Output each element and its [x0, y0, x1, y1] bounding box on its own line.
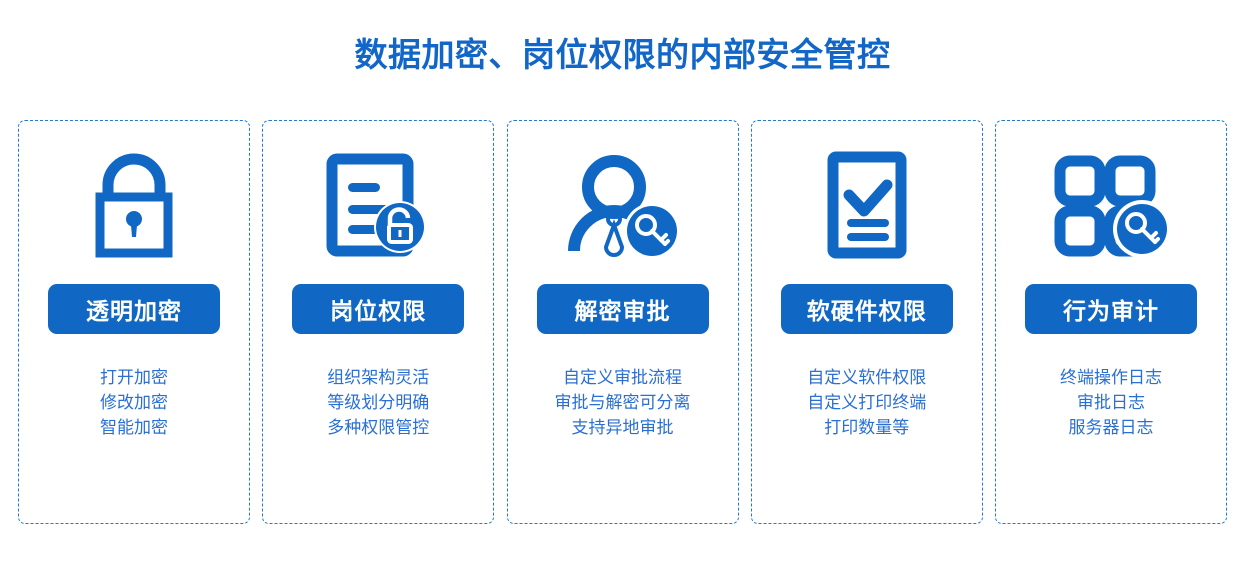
- grid-key-icon: [996, 121, 1226, 281]
- card-description-line: 终端操作日志: [1060, 365, 1162, 390]
- card-badge-label: 行为审计: [1025, 284, 1197, 334]
- person-key-icon: [508, 121, 738, 281]
- feature-card-software-hardware-permission[interactable]: 软硬件权限 自定义软件权限 自定义打印终端 打印数量等: [751, 120, 983, 524]
- card-description: 自定义软件权限 自定义打印终端 打印数量等: [807, 365, 926, 440]
- card-description-line: 自定义软件权限: [807, 365, 926, 390]
- card-description: 终端操作日志 审批日志 服务器日志: [1060, 365, 1162, 440]
- infographic-page: 数据加密、岗位权限的内部安全管控 透明加密 打开加密 修改加密 智能加密: [0, 0, 1245, 567]
- card-badge-label: 解密审批: [537, 284, 709, 334]
- card-description-line: 打开加密: [100, 365, 168, 390]
- card-description: 组织架构灵活 等级划分明确 多种权限管控: [327, 365, 429, 440]
- document-check-icon: [752, 121, 982, 281]
- card-description: 自定义审批流程 审批与解密可分离 支持异地审批: [555, 365, 691, 440]
- page-title: 数据加密、岗位权限的内部安全管控: [0, 32, 1245, 78]
- padlock-icon: [19, 121, 249, 281]
- card-description-line: 组织架构灵活: [327, 365, 429, 390]
- card-badge-label: 岗位权限: [292, 284, 464, 334]
- card-badge-label: 透明加密: [48, 284, 220, 334]
- card-description-line: 多种权限管控: [327, 415, 429, 440]
- card-description-line: 支持异地审批: [555, 415, 691, 440]
- card-description-line: 审批与解密可分离: [555, 390, 691, 415]
- card-description-line: 自定义打印终端: [807, 390, 926, 415]
- card-badge-label: 软硬件权限: [781, 284, 953, 334]
- card-description-line: 自定义审批流程: [555, 365, 691, 390]
- document-unlock-icon: [263, 121, 493, 281]
- card-description-line: 智能加密: [100, 415, 168, 440]
- feature-card-transparent-encryption[interactable]: 透明加密 打开加密 修改加密 智能加密: [18, 120, 250, 524]
- card-description-line: 等级划分明确: [327, 390, 429, 415]
- feature-card-role-permission[interactable]: 岗位权限 组织架构灵活 等级划分明确 多种权限管控: [262, 120, 494, 524]
- card-description: 打开加密 修改加密 智能加密: [100, 365, 168, 440]
- feature-card-decryption-approval[interactable]: 解密审批 自定义审批流程 审批与解密可分离 支持异地审批: [507, 120, 739, 524]
- feature-card-behavior-audit[interactable]: 行为审计 终端操作日志 审批日志 服务器日志: [995, 120, 1227, 524]
- feature-card-list: 透明加密 打开加密 修改加密 智能加密: [18, 120, 1227, 524]
- card-description-line: 修改加密: [100, 390, 168, 415]
- card-description-line: 打印数量等: [807, 415, 926, 440]
- card-description-line: 审批日志: [1060, 390, 1162, 415]
- card-description-line: 服务器日志: [1060, 415, 1162, 440]
